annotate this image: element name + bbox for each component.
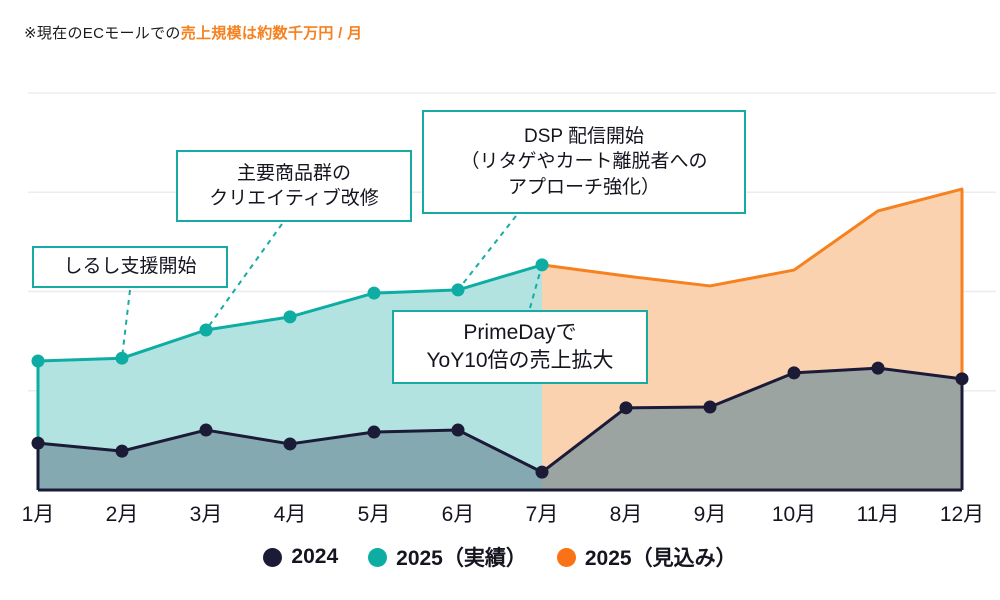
legend-label: 2024: [291, 545, 338, 569]
marker-2024[interactable]: [788, 366, 801, 379]
annotation-line: PrimeDayで: [463, 319, 576, 347]
x-axis-label-12: 12月: [940, 498, 984, 528]
annotation-line: クリエイティブ改修: [209, 186, 378, 211]
annotation-line: DSP 配信開始: [524, 124, 644, 149]
marker-2024[interactable]: [368, 426, 381, 439]
annotation-line: YoY10倍の売上拡大: [426, 347, 613, 375]
marker-2024[interactable]: [200, 424, 213, 437]
marker-2024[interactable]: [704, 401, 717, 414]
marker-2024[interactable]: [536, 466, 549, 479]
annotation-creative-revamp[interactable]: 主要商品群の クリエイティブ改修: [176, 150, 412, 222]
marker-2024[interactable]: [116, 445, 129, 458]
annotation-line: 主要商品群の: [237, 161, 351, 186]
x-axis-label-9: 9月: [694, 498, 727, 528]
x-axis-label-5: 5月: [358, 498, 391, 528]
leader-line-0: [122, 290, 130, 358]
marker-2024[interactable]: [32, 437, 45, 450]
annotation-primeday[interactable]: PrimeDayで YoY10倍の売上拡大: [392, 310, 648, 384]
marker-2024[interactable]: [452, 424, 465, 437]
legend-item-2[interactable]: 2025（見込み）: [557, 542, 737, 572]
x-axis-label-7: 7月: [526, 498, 559, 528]
chart-legend: 20242025（実績）2025（見込み）: [0, 542, 1000, 572]
marker-2025-actual[interactable]: [32, 354, 45, 367]
legend-dot-icon: [263, 548, 282, 567]
marker-2024[interactable]: [956, 372, 969, 385]
annotation-shirushi-support[interactable]: しるし支援開始: [32, 246, 228, 288]
x-axis-label-1: 1月: [22, 498, 55, 528]
x-axis-label-8: 8月: [610, 498, 643, 528]
annotation-line: しるし支援開始: [63, 254, 196, 279]
marker-2024[interactable]: [284, 437, 297, 450]
x-axis-label-10: 10月: [772, 498, 816, 528]
legend-dot-icon: [368, 548, 387, 567]
legend-item-0[interactable]: 2024: [263, 545, 338, 569]
x-axis-label-11: 11月: [857, 498, 900, 528]
x-axis-label-6: 6月: [442, 498, 475, 528]
marker-2025-actual[interactable]: [284, 310, 297, 323]
marker-2024[interactable]: [620, 401, 633, 414]
x-axis-label-3: 3月: [190, 498, 223, 528]
chart-page: ※現在のECモールでの売上規模は約数千万円 / 月 しるし支援開始 主要商品群の…: [0, 0, 1000, 600]
legend-dot-icon: [557, 548, 576, 567]
legend-label: 2025（見込み）: [585, 542, 737, 572]
x-axis-label-4: 4月: [274, 498, 307, 528]
x-axis-labels: 1月2月3月4月5月6月7月8月9月10月11月12月: [0, 498, 1000, 532]
x-axis-label-2: 2月: [106, 498, 139, 528]
annotation-line: アプローチ強化）: [508, 175, 660, 200]
annotation-line: （リタゲやカート離脱者への: [460, 149, 707, 174]
annotation-dsp-launch[interactable]: DSP 配信開始 （リタゲやカート離脱者への アプローチ強化）: [422, 110, 746, 214]
marker-2025-actual[interactable]: [368, 287, 381, 300]
legend-item-1[interactable]: 2025（実績）: [368, 542, 527, 572]
legend-label: 2025（実績）: [396, 542, 527, 572]
marker-2024[interactable]: [872, 362, 885, 375]
